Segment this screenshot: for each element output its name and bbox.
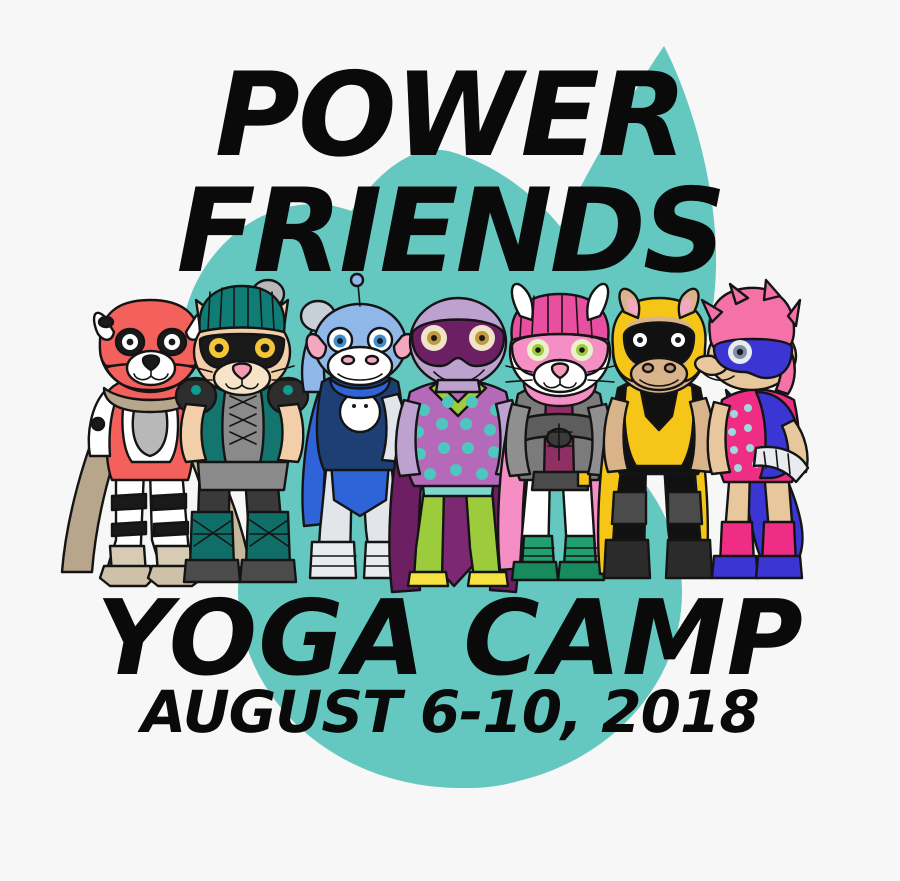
poster-canvas: POWER FRIENDS YOGA CAMP AUGUST 6-10, 201… [0, 0, 900, 881]
character-lineup [0, 0, 900, 881]
character-pink-bunny [498, 284, 614, 580]
character-pink-haired-pup [695, 280, 808, 578]
character-yellow-horse [598, 289, 714, 578]
